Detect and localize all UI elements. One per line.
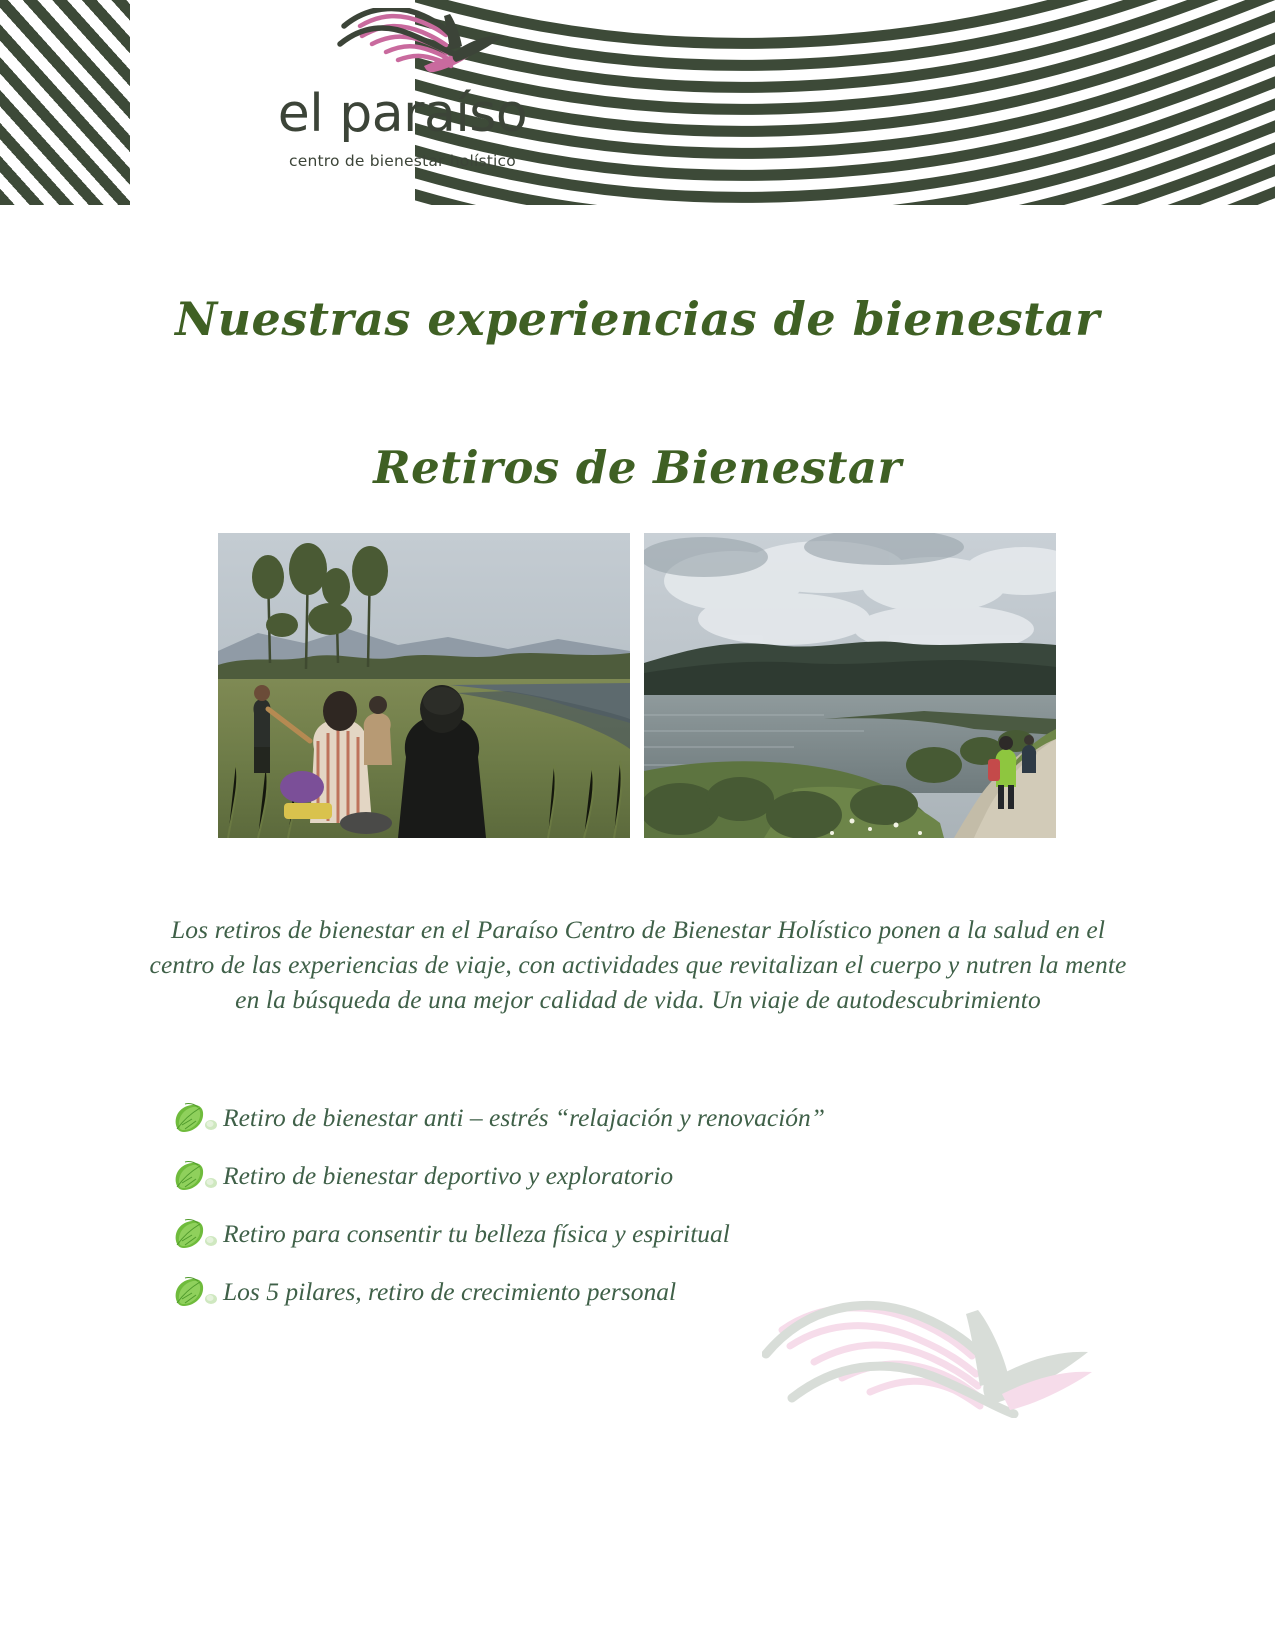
- list-item-label: Retiro de bienestar anti – estrés “relaj…: [223, 1103, 825, 1132]
- list-item[interactable]: Los 5 pilares, retiro de crecimiento per…: [170, 1272, 1070, 1330]
- leaf-icon: [170, 1103, 218, 1135]
- document-page: el paraíso centro de bienestar holístico…: [0, 0, 1275, 1650]
- photo-retreat-group: [218, 533, 630, 838]
- list-item-label: Retiro de bienestar deportivo y explorat…: [223, 1161, 673, 1190]
- leaf-icon: [170, 1277, 218, 1309]
- intro-paragraph: Los retiros de bienestar en el Paraíso C…: [143, 912, 1133, 1018]
- wave-logo-icon: [282, 8, 532, 86]
- logo-plate: el paraíso centro de bienestar holístico: [130, 0, 415, 205]
- logo-tagline: centro de bienestar holístico: [260, 152, 545, 170]
- section-title: Retiros de Bienestar: [0, 441, 1275, 494]
- list-item-label: Retiro para consentir tu belleza física …: [223, 1219, 730, 1248]
- retreat-list: Retiro de bienestar anti – estrés “relaj…: [170, 1098, 1070, 1330]
- logo-wordmark: el paraíso: [260, 88, 545, 140]
- header-banner: el paraíso centro de bienestar holístico: [0, 0, 1275, 205]
- photo-gallery: [218, 533, 1056, 838]
- photo-lake-trail: [644, 533, 1056, 838]
- leaf-icon: [170, 1219, 218, 1251]
- list-item-label: Los 5 pilares, retiro de crecimiento per…: [223, 1277, 676, 1306]
- page-title: Nuestras experiencias de bienestar: [0, 292, 1275, 346]
- header-stripes-left: [0, 0, 130, 205]
- list-item[interactable]: Retiro para consentir tu belleza física …: [170, 1214, 1070, 1272]
- list-item[interactable]: Retiro de bienestar anti – estrés “relaj…: [170, 1098, 1070, 1156]
- leaf-icon: [170, 1161, 218, 1193]
- list-item[interactable]: Retiro de bienestar deportivo y explorat…: [170, 1156, 1070, 1214]
